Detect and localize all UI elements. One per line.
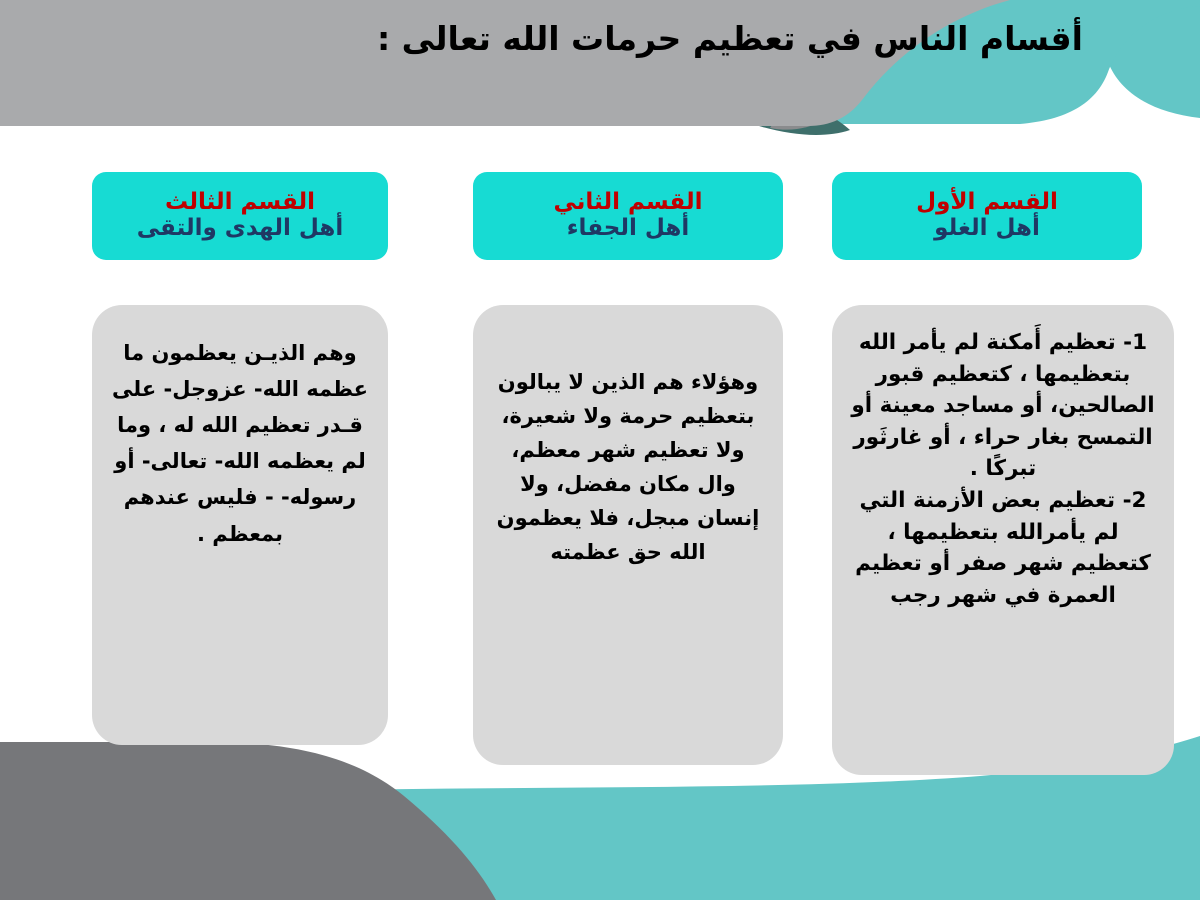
section-badge-two[interactable]: القسم الثاني أهل الجفاء	[473, 172, 783, 260]
section-badge-title: القسم الأول	[916, 189, 1058, 215]
section-badge-subtitle: أهل الهدى والتقى	[137, 215, 343, 243]
section-badge-one[interactable]: القسم الأول أهل الغلو	[832, 172, 1142, 260]
section-column-three: القسم الثالث أهل الهدى والتقى وهم الذيـن…	[50, 0, 400, 900]
section-column-two: القسم الثاني أهل الجفاء وهؤلاء هم الذين …	[441, 0, 791, 900]
section-body-line: وهؤلاء هم الذين لا يبالون بتعظيم حرمة ول…	[491, 365, 765, 569]
section-panel-three: وهم الذيـن يعظمون ما عظمه الله- عزوجل- ع…	[92, 305, 388, 745]
page-title: أقسام الناس في تعظيم حرمات الله تعالى :	[300, 18, 1160, 59]
section-body-line: 1- تعظيم أَمكنة لم يأمر الله بتعظيمها ، …	[848, 327, 1158, 485]
section-column-one: القسم الأول أهل الغلو 1- تعظيم أَمكنة لم…	[832, 0, 1182, 900]
section-panel-two: وهؤلاء هم الذين لا يبالون بتعظيم حرمة ول…	[473, 305, 783, 765]
section-badge-subtitle: أهل الجفاء	[567, 215, 689, 243]
section-badge-title: القسم الثالث	[165, 189, 315, 215]
section-badge-three[interactable]: القسم الثالث أهل الهدى والتقى	[92, 172, 388, 260]
section-badge-subtitle: أهل الغلو	[934, 215, 1040, 243]
section-body-line: 2- تعظيم بعض الأزمنة التي لم يأمرالله بت…	[848, 485, 1158, 611]
sections-container: القسم الأول أهل الغلو 1- تعظيم أَمكنة لم…	[0, 0, 1200, 900]
slide-canvas: أقسام الناس في تعظيم حرمات الله تعالى : …	[0, 0, 1200, 900]
section-panel-one: 1- تعظيم أَمكنة لم يأمر الله بتعظيمها ، …	[832, 305, 1174, 775]
section-badge-title: القسم الثاني	[554, 189, 703, 215]
section-body-line: وهم الذيـن يعظمون ما عظمه الله- عزوجل- ع…	[108, 335, 372, 552]
